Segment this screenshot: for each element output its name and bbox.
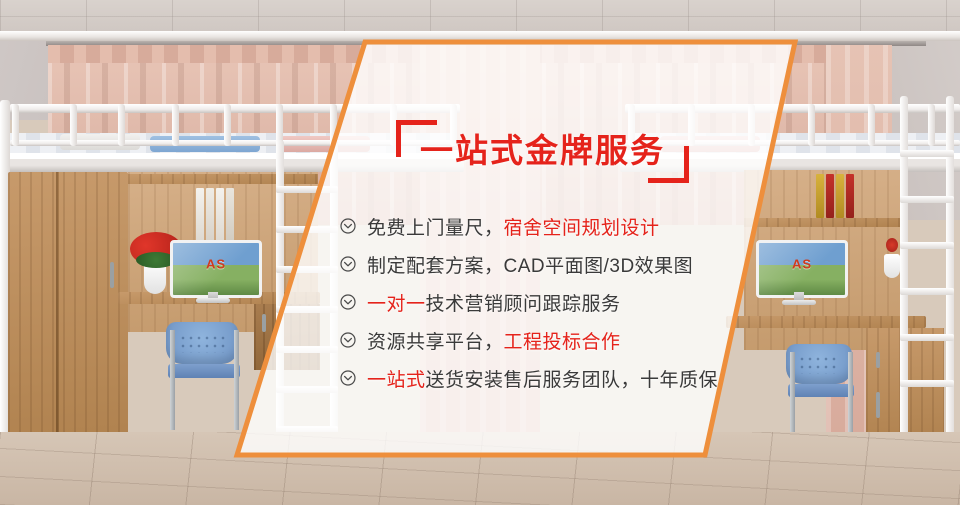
circle-chevron-down-icon bbox=[340, 256, 356, 272]
list-item: 资源共享平台，工程投标合作 bbox=[340, 321, 760, 359]
list-item-text: 资源共享平台，工程投标合作 bbox=[367, 327, 621, 354]
promo-banner: AS AS bbox=[0, 0, 960, 505]
list-item-text: 免费上门量尺，宿舍空间规划设计 bbox=[367, 213, 660, 240]
service-list: 免费上门量尺，宿舍空间规划设计 制定配套方案，CAD平面图/3D效果图 bbox=[340, 207, 760, 397]
text-plain-before: 免费上门量尺， bbox=[367, 218, 504, 239]
list-item: 一对一技术营销顾问跟踪服务 bbox=[340, 283, 760, 321]
text-highlight: 工程投标合作 bbox=[504, 332, 621, 353]
text-highlight: 宿舍空间规划设计 bbox=[504, 218, 660, 239]
text-plain-before: 制定配套方案，CAD平面图/3D效果图 bbox=[367, 256, 693, 277]
list-item-text: 一站式送货安装售后服务团队，十年质保 bbox=[367, 365, 718, 392]
text-highlight: 一对一 bbox=[367, 294, 426, 315]
list-item: 免费上门量尺，宿舍空间规划设计 bbox=[340, 207, 760, 245]
banner-content: 一站式金牌服务 免费上门量尺，宿舍空间规划设计 bbox=[0, 0, 960, 505]
list-item-text: 制定配套方案，CAD平面图/3D效果图 bbox=[367, 251, 693, 278]
list-item-text: 一对一技术营销顾问跟踪服务 bbox=[367, 289, 621, 316]
list-item: 制定配套方案，CAD平面图/3D效果图 bbox=[340, 245, 760, 283]
list-item: 一站式送货安装售后服务团队，十年质保 bbox=[340, 359, 760, 397]
title-block: 一站式金牌服务 bbox=[396, 120, 686, 190]
text-highlight: 一站式 bbox=[367, 370, 426, 391]
circle-chevron-down-icon bbox=[340, 218, 356, 234]
circle-chevron-down-icon bbox=[340, 332, 356, 348]
page-title: 一站式金牌服务 bbox=[420, 124, 665, 172]
text-plain-before: 资源共享平台， bbox=[367, 332, 504, 353]
text-plain-after: 技术营销顾问跟踪服务 bbox=[426, 294, 621, 315]
text-plain-after: 送货安装售后服务团队，十年质保 bbox=[426, 370, 719, 391]
circle-chevron-down-icon bbox=[340, 370, 356, 386]
circle-chevron-down-icon bbox=[340, 294, 356, 310]
